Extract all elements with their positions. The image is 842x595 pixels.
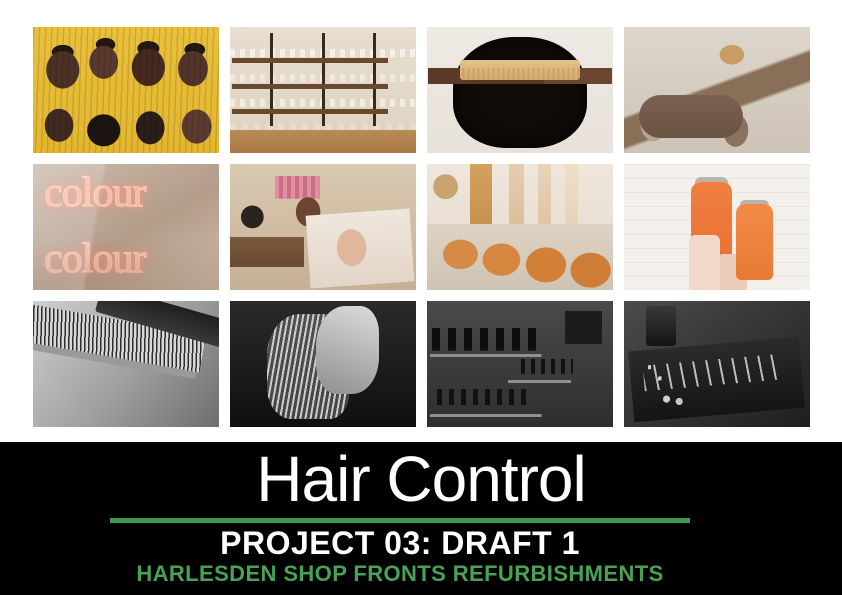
moodboard-tile-hair-washing-lather-bw[interactable] — [230, 301, 416, 427]
salon-product-shelves-image — [230, 27, 416, 153]
tail-comb-foils-bw-image — [33, 301, 219, 427]
moodboard-tile-hair-rollers-magazine[interactable] — [230, 164, 416, 290]
barber-tools-bw-image — [624, 301, 810, 427]
project-tagline: HARLESDEN SHOP FRONTS REFURBISHMENTS — [110, 561, 690, 587]
modern-salon-chairs-image — [427, 164, 613, 290]
title-banner: Hair Control PROJECT 03: DRAFT 1 HARLESD… — [0, 442, 842, 595]
neon-sign-text-upper: colour — [44, 169, 208, 217]
hair-rollers-magazine-image — [230, 164, 416, 290]
green-divider — [110, 518, 690, 523]
project-subtitle: PROJECT 03: DRAFT 1 — [110, 524, 690, 562]
dark-retail-display-bw-image — [427, 301, 613, 427]
neon-sign-text-lower: colour — [44, 235, 208, 283]
colour-neon-window-sign-image: colour colour — [33, 164, 219, 290]
rolled-towels-spa-brushes-image — [624, 27, 810, 153]
moodboard-tile-tail-comb-foils-bw[interactable] — [33, 301, 219, 427]
moodboard-tile-rolled-towels-spa-brushes[interactable] — [624, 27, 810, 153]
wide-tooth-comb-curls-image — [427, 27, 613, 153]
hair-washing-lather-bw-image — [230, 301, 416, 427]
moodboard-tile-salon-product-shelves[interactable] — [230, 27, 416, 153]
barber-bottle-shape — [646, 306, 676, 346]
moodboard-tile-modern-salon-chairs[interactable] — [427, 164, 613, 290]
moodboard-tile-dark-retail-display-bw[interactable] — [427, 301, 613, 427]
moodboard-tile-braided-hairstyles-collage[interactable] — [33, 27, 219, 153]
moodboard-tile-colour-neon-window-sign[interactable]: colour colour — [33, 164, 219, 290]
moodboard-grid: colour colour — [0, 0, 842, 442]
presentation-slide: colour colour Hair Con — [0, 0, 842, 595]
moodboard-tile-wide-tooth-comb-curls[interactable] — [427, 27, 613, 153]
moodboard-tile-barber-tools-bw[interactable] — [624, 301, 810, 427]
orange-shampoo-bottles-image — [624, 164, 810, 290]
braided-hairstyles-collage-image — [33, 27, 219, 153]
moodboard-tile-orange-shampoo-bottles[interactable] — [624, 164, 810, 290]
page-title: Hair Control — [0, 445, 842, 513]
